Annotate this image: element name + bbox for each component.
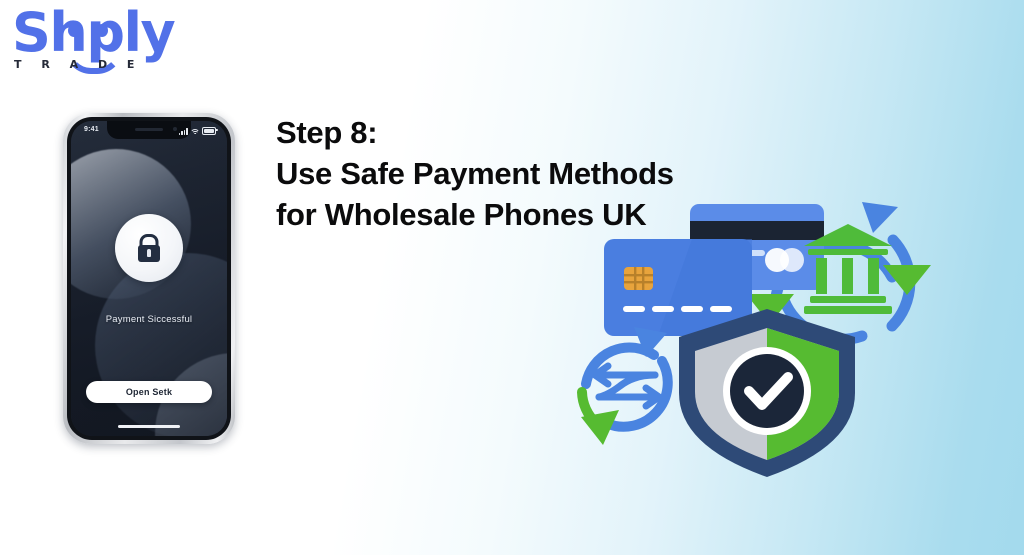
card-chip (624, 267, 653, 290)
phone-screen: 9:41 Payment Siccessful Open Setk (71, 121, 227, 436)
heading-line-1: Step 8: (276, 112, 796, 153)
check-circle-icon (730, 354, 804, 428)
cellular-signal-icon (179, 128, 188, 135)
phone-mockup: 9:41 Payment Siccessful Open Setk (63, 113, 235, 444)
status-bar: 9:41 (71, 123, 227, 139)
secure-payment-illustration (562, 178, 972, 478)
promo-banner: Shply T R A D E Step 8: Use Safe Payment… (0, 0, 1024, 555)
status-time: 9:41 (84, 126, 99, 133)
padlock-icon (115, 214, 183, 282)
logo-tagline: T R A D E (14, 58, 142, 71)
home-indicator[interactable] (118, 425, 180, 428)
battery-icon (202, 127, 216, 136)
magnetic-stripe (690, 221, 824, 240)
wifi-icon (191, 128, 199, 135)
payment-status-text: Payment Siccessful (71, 314, 227, 325)
security-shield-icon (679, 309, 855, 477)
exchange-arrows-icon (581, 327, 668, 445)
brand-logo[interactable]: Shply T R A D E (8, 2, 208, 78)
open-app-button[interactable]: Open Setk (86, 381, 212, 403)
